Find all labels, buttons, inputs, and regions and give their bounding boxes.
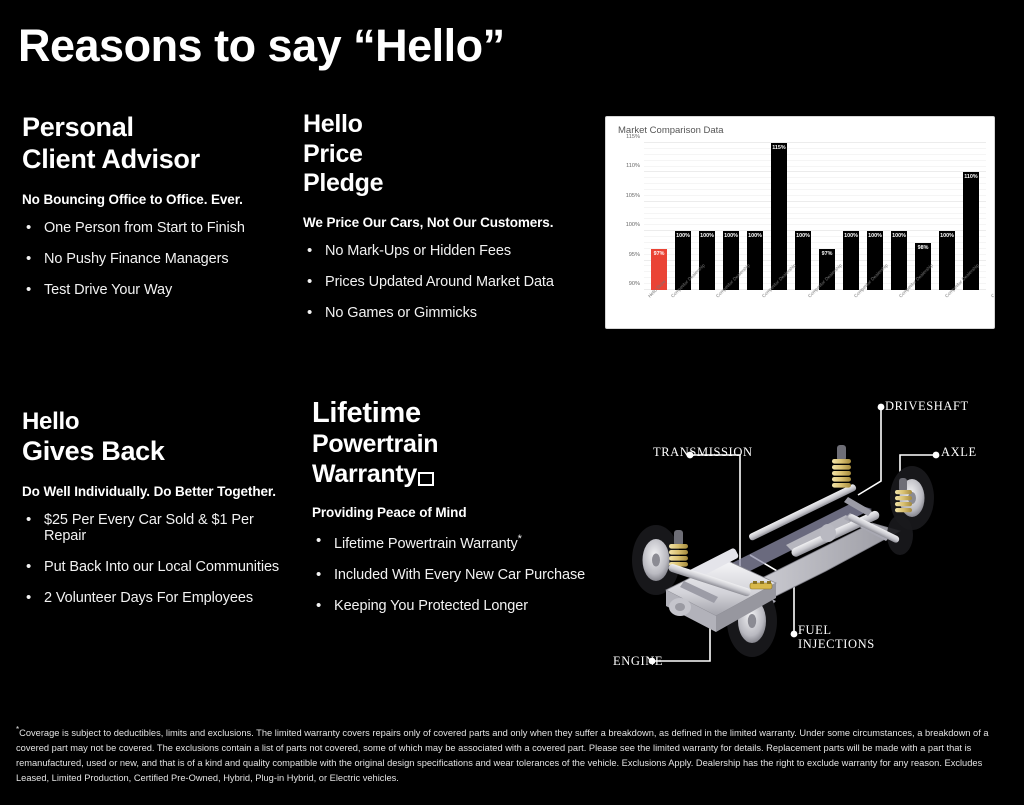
section-hello-price-pledge: Hello Price Pledge We Price Our Cars, No… [303, 110, 583, 336]
section-subheading: No Bouncing Office to Office. Ever. [22, 192, 287, 207]
list-item: No Games or Gimmicks [303, 305, 583, 321]
section-lifetime-powertrain-warranty: Lifetime Powertrain Warranty Providing P… [312, 396, 597, 629]
list-item: No Mark-Ups or Hidden Fees [303, 243, 583, 259]
list-item: Test Drive Your Way [22, 282, 287, 298]
section-subheading: We Price Our Cars, Not Our Customers. [303, 215, 583, 230]
chart-bar-value: 100% [675, 233, 690, 239]
list-item: One Person from Start to Finish [22, 220, 287, 236]
chart-bar-slot: 100% [719, 143, 743, 290]
chart-y-tick: 90% [629, 281, 640, 287]
chart-bar-value: 100% [699, 233, 714, 239]
heading-line-2: Price [303, 140, 583, 170]
fuel-label-line-2: INJECTIONS [798, 637, 875, 651]
diagram-label-axle: AXLE [941, 445, 977, 460]
section-heading: Personal Client Advisor [22, 112, 287, 176]
heading-line-3-text: Warranty [312, 460, 417, 488]
bullet-list: Lifetime Powertrain Warranty* Included W… [312, 533, 597, 614]
heading-line-1: Personal [22, 112, 287, 144]
heading-line-2: Powertrain [312, 430, 597, 460]
market-comparison-chart-card: Market Comparison Data Percent of MSRP 9… [605, 116, 995, 329]
chart-bar-value: 110% [963, 174, 978, 180]
chart-y-tick: 115% [626, 134, 640, 140]
heading-line-1: Hello [22, 408, 292, 436]
page-title: Reasons to say “Hello” [18, 22, 505, 69]
bullet-list: $25 Per Every Car Sold & $1 Per Repair P… [22, 512, 292, 606]
heading-line-3: Warranty [312, 460, 597, 490]
chart-y-tick: 100% [626, 222, 640, 228]
disclaimer-text: Coverage is subject to deductibles, limi… [16, 728, 989, 783]
diagram-label-transmission: TRANSMISSION [653, 445, 753, 460]
chart-bar-value: 100% [747, 233, 762, 239]
section-subheading: Providing Peace of Mind [312, 505, 597, 520]
list-item: Included With Every New Car Purchase [312, 567, 597, 583]
chart-bar-value: 100% [723, 233, 738, 239]
heading-line-2: Client Advisor [22, 144, 287, 176]
list-item: Lifetime Powertrain Warranty* [312, 533, 597, 552]
bullet-list: No Mark-Ups or Hidden Fees Prices Update… [303, 243, 583, 321]
chart-bar-slot: 97% [647, 143, 671, 290]
chart-bar-value: 115% [771, 145, 786, 151]
chart-bar: 115% [771, 143, 786, 290]
heading-line-2: Gives Back [22, 436, 292, 468]
diagram-label-engine: ENGINE [613, 654, 663, 669]
diagram-label-driveshaft: DRIVESHAFT [885, 399, 969, 414]
diagram-label-fuel-injections: FUEL INJECTIONS [798, 623, 875, 651]
section-subheading: Do Well Individually. Do Better Together… [22, 484, 292, 499]
section-heading: Hello Price Pledge [303, 110, 583, 199]
chart-bar-value: 100% [939, 233, 954, 239]
missing-glyph-icon [418, 472, 434, 486]
chart-x-label-slot: Competitor Dealership [944, 293, 990, 329]
list-item: Prices Updated Around Market Data [303, 274, 583, 290]
list-item: Put Back Into our Local Communities [22, 559, 292, 575]
chart-bar-slot: 100% [671, 143, 695, 290]
bullet-list: One Person from Start to Finish No Pushy… [22, 220, 287, 298]
slide-root: Reasons to say “Hello” Personal Client A… [0, 0, 1024, 805]
list-item: Keeping You Protected Longer [312, 598, 597, 614]
chart-bar-slot: 100% [935, 143, 959, 290]
chart-bar-value: 97% [819, 251, 834, 257]
asterisk-icon: * [518, 533, 522, 545]
chart-x-label-slot: Hello Store [647, 293, 670, 329]
chart-y-tick: 105% [626, 193, 640, 199]
list-item: $25 Per Every Car Sold & $1 Per Repair [22, 512, 292, 544]
chart-x-label-slot: Competitor Dealership [761, 293, 807, 329]
chart-bar-value: 100% [867, 233, 882, 239]
section-hello-gives-back: Hello Gives Back Do Well Individually. D… [22, 408, 292, 621]
chassis-diagram: DRIVESHAFT AXLE TRANSMISSION ENGINE FUEL… [600, 385, 1024, 685]
chart-bar-value: 100% [795, 233, 810, 239]
chart-bar-value: 100% [843, 233, 858, 239]
chart-x-label-slot: Competitor Dealership [898, 293, 944, 329]
chart-y-axis-label: Percent of MSRP [605, 218, 608, 258]
heading-line-1: Hello [303, 110, 583, 140]
section-heading: Hello Gives Back [22, 408, 292, 468]
list-item: No Pushy Finance Managers [22, 251, 287, 267]
fuel-label-line-1: FUEL [798, 623, 875, 637]
chart-x-label-slot: Competitor Dealership [853, 293, 899, 329]
chart-x-axis-labels: Hello StoreCompetitor DealershipCompetit… [644, 293, 986, 329]
section-personal-client-advisor: Personal Client Advisor No Bouncing Offi… [22, 112, 287, 313]
legal-disclaimer: *Coverage is subject to deductibles, lim… [16, 724, 1006, 786]
chart-x-label-slot: Competitor Dealership [807, 293, 853, 329]
chart-bar-value: 98% [915, 245, 930, 251]
section-heading: Lifetime Powertrain Warranty [312, 396, 597, 489]
chart-bar-value: 97% [651, 251, 666, 257]
chart-x-label-slot: Competitor Dealership [715, 293, 761, 329]
chart-y-tick: 110% [626, 163, 640, 169]
suspension-spring-rear [832, 445, 851, 488]
chart-bar-value: 100% [891, 233, 906, 239]
list-item: 2 Volunteer Days For Employees [22, 590, 292, 606]
heading-line-3: Pledge [303, 169, 583, 199]
chart-y-tick: 95% [629, 252, 640, 258]
heading-line-1: Lifetime [312, 396, 597, 430]
list-item-text: Lifetime Powertrain Warranty [334, 536, 518, 552]
